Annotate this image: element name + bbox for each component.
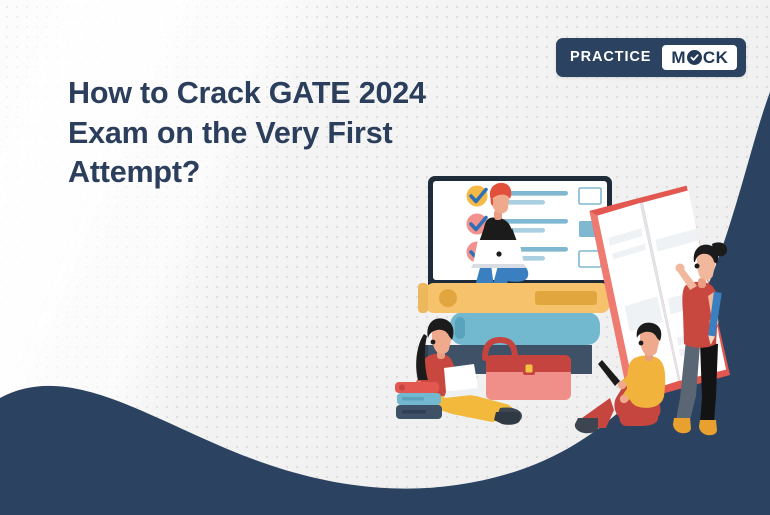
check-icon	[687, 50, 702, 65]
page-title: How to Crack GATE 2024 Exam on the Very …	[68, 74, 488, 193]
logo-letter-m: M	[671, 49, 686, 66]
banner-root: How to Crack GATE 2024 Exam on the Very …	[0, 0, 770, 515]
logo-mock-badge: M CK	[662, 45, 737, 70]
small-book-stack	[395, 382, 442, 419]
logo-letters-ck: CK	[703, 49, 728, 66]
practicemock-logo[interactable]: PRACTICE M CK	[556, 38, 746, 77]
logo-word-mock: M CK	[671, 49, 728, 66]
logo-word-practice: PRACTICE	[570, 50, 662, 65]
